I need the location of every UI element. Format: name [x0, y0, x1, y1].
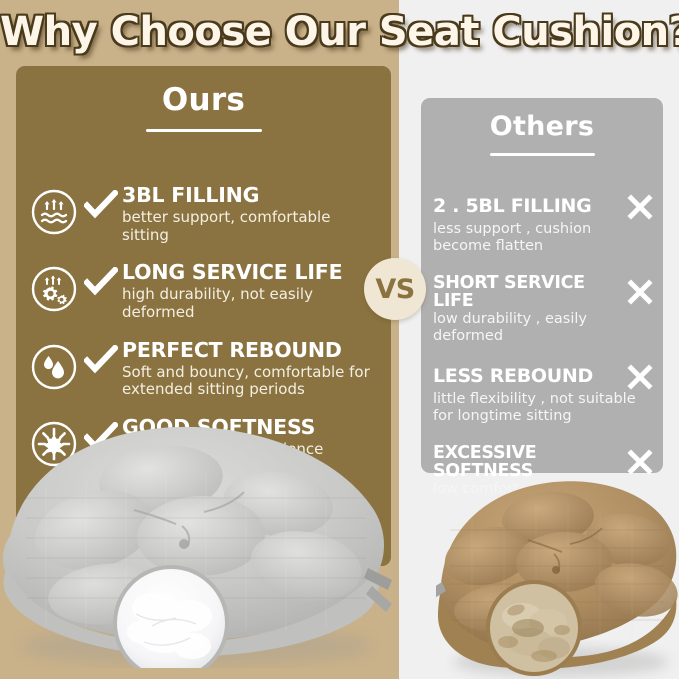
- list-item: 3BL FILLING better support, comfortable …: [16, 184, 391, 244]
- feature-title: LONG SERVICE LIFE: [122, 260, 342, 284]
- ours-divider: [146, 129, 262, 132]
- check-icon: [84, 345, 118, 380]
- list-item: 2 . 5BL FILLING less support , cushion b…: [433, 194, 653, 255]
- list-item: SHORT SERVICE LIFE low durability , easi…: [433, 274, 653, 345]
- page-title: Why Choose Our Seat Cushion?: [0, 4, 679, 60]
- feature-title: PERFECT REBOUND: [122, 338, 342, 362]
- feature-title: 2 . 5BL FILLING: [433, 197, 591, 217]
- list-item: LESS REBOUND little flexibility , not su…: [433, 364, 653, 425]
- infographic-canvas: Why Choose Our Seat Cushion? Ours: [0, 0, 679, 679]
- feature-subtitle: less support , cushion become flatten: [433, 221, 653, 255]
- others-panel: Others 2 . 5BL FILLING less support , cu…: [421, 98, 663, 473]
- feature-title: LESS REBOUND: [433, 367, 593, 387]
- feature-text: LONG SERVICE LIFE high durability, not e…: [118, 261, 379, 321]
- list-item: LONG SERVICE LIFE high durability, not e…: [16, 261, 391, 321]
- feature-title: SHORT SERVICE LIFE: [433, 274, 621, 311]
- feature-subtitle: low durability , easily deformed: [433, 311, 653, 345]
- feature-text: 3BL FILLING better support, comfortable …: [118, 184, 379, 244]
- others-heading: Others: [421, 98, 663, 142]
- ours-heading: Ours: [16, 66, 391, 118]
- water-waves-up-arrows-icon: [30, 188, 78, 236]
- others-feature-list: 2 . 5BL FILLING less support , cushion b…: [421, 194, 663, 517]
- cross-icon: [627, 194, 653, 220]
- gray-cushion-image: [0, 418, 406, 668]
- list-item: PERFECT REBOUND Soft and bouncy, comfort…: [16, 339, 391, 399]
- feature-subtitle: high durability, not easily deformed: [122, 286, 379, 321]
- gears-up-arrows-icon: [30, 265, 78, 313]
- brown-cushion-image: [436, 470, 679, 679]
- vs-badge: VS: [364, 258, 426, 320]
- feature-text: PERFECT REBOUND Soft and bouncy, comfort…: [118, 339, 379, 399]
- check-icon: [84, 267, 118, 302]
- feature-subtitle: Soft and bouncy, comfortable for extende…: [122, 364, 379, 399]
- check-icon: [84, 190, 118, 225]
- others-divider: [490, 153, 595, 156]
- vs-label: VS: [375, 274, 414, 305]
- water-droplets-icon: [30, 343, 78, 391]
- cross-icon: [627, 364, 653, 390]
- feature-subtitle: little flexibility , not suitable for lo…: [433, 391, 653, 425]
- feature-title: 3BL FILLING: [122, 183, 259, 207]
- cross-icon: [627, 279, 653, 305]
- feature-subtitle: better support, comfortable sitting: [122, 209, 379, 244]
